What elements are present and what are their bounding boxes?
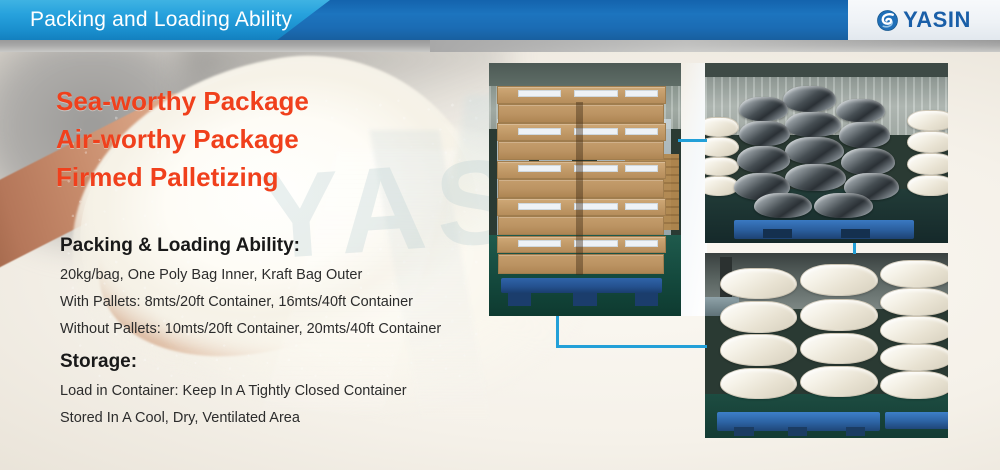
foil-bag <box>739 121 790 146</box>
storage-line-2: Stored In A Cool, Dry, Ventilated Area <box>60 405 407 432</box>
connector-tick-right <box>853 243 856 254</box>
white-bag <box>800 264 878 295</box>
white-bag <box>705 157 739 177</box>
foil-bag <box>737 146 790 173</box>
photo-cartons <box>489 63 681 316</box>
white-bag <box>720 334 798 365</box>
headline-line-2: Air-worthy Package <box>56 120 309 158</box>
white-bag <box>907 153 948 175</box>
packing-line-3: Without Pallets: 10mts/20ft Container, 2… <box>60 316 441 343</box>
pallet-foot <box>734 427 753 436</box>
foil-bag <box>783 86 836 111</box>
packing-section: Packing & Loading Ability: 20kg/bag, One… <box>60 232 441 343</box>
white-bag <box>800 299 878 330</box>
white-bag <box>880 344 948 372</box>
headline-group: Sea-worthy Package Air-worthy Package Fi… <box>56 82 309 196</box>
pallet-foot <box>788 427 807 436</box>
blue-pallet <box>501 278 662 293</box>
swirl-logo-icon <box>877 10 898 31</box>
packing-section-title: Packing & Loading Ability: <box>60 232 441 260</box>
white-bag <box>720 368 798 399</box>
carton-stack-main <box>497 86 666 283</box>
pallet-slot <box>763 229 792 238</box>
white-bag <box>880 288 948 316</box>
foil-bag <box>739 97 788 120</box>
blue-pallet <box>885 412 948 429</box>
slide-canvas: YASIN Packing and Loading Ability YASIN … <box>0 0 1000 470</box>
connector-line-upper-joint <box>678 139 681 142</box>
blue-pallet <box>734 220 914 240</box>
foil-bag <box>814 193 872 218</box>
photo-white-bags <box>705 253 948 438</box>
white-bag <box>720 301 798 332</box>
white-bag <box>880 371 948 399</box>
storage-section: Storage: Load in Container: Keep In A Ti… <box>60 348 407 432</box>
brand-logo-text: YASIN <box>903 9 971 31</box>
warehouse-roof <box>489 63 681 86</box>
white-bag <box>800 366 878 397</box>
pallet-slot <box>841 229 870 238</box>
header-underline-fade <box>430 40 1000 52</box>
foil-bag <box>836 99 885 122</box>
pallet-foot <box>635 293 658 306</box>
white-bag <box>907 175 948 197</box>
headline-line-3: Firmed Palletizing <box>56 158 309 196</box>
connector-line-lower-vertical <box>556 316 559 348</box>
connector-line-lower-horizontal <box>556 345 707 348</box>
foil-bag <box>785 164 846 191</box>
white-bag <box>705 137 739 157</box>
headline-line-1: Sea-worthy Package <box>56 82 309 120</box>
white-bag <box>907 131 948 153</box>
photo-silver-bags <box>705 63 948 243</box>
foil-bag <box>785 137 843 164</box>
white-bag <box>880 260 948 288</box>
foil-bag <box>754 193 812 218</box>
foil-bag <box>841 148 894 175</box>
white-bag <box>705 117 739 137</box>
photo-gutter <box>681 63 707 316</box>
white-bag <box>720 268 798 299</box>
pallet-foot <box>846 427 865 436</box>
foil-bag <box>785 112 841 137</box>
pallet-foot <box>508 293 531 306</box>
packing-line-2: With Pallets: 8mts/20ft Container, 16mts… <box>60 289 441 316</box>
brand-logo: YASIN <box>848 0 1000 40</box>
carton-gap-shadow <box>576 102 583 276</box>
storage-line-1: Load in Container: Keep In A Tightly Clo… <box>60 378 407 405</box>
pallet-foot <box>573 293 596 306</box>
white-bag <box>880 316 948 344</box>
connector-line-upper <box>678 139 707 142</box>
foil-bag <box>839 122 890 147</box>
page-title: Packing and Loading Ability <box>30 0 292 40</box>
white-bag <box>800 333 878 364</box>
packing-line-1: 20kg/bag, One Poly Bag Inner, Kraft Bag … <box>60 262 441 289</box>
warehouse-roof <box>705 63 948 77</box>
white-bag <box>907 110 948 132</box>
storage-section-title: Storage: <box>60 348 407 376</box>
